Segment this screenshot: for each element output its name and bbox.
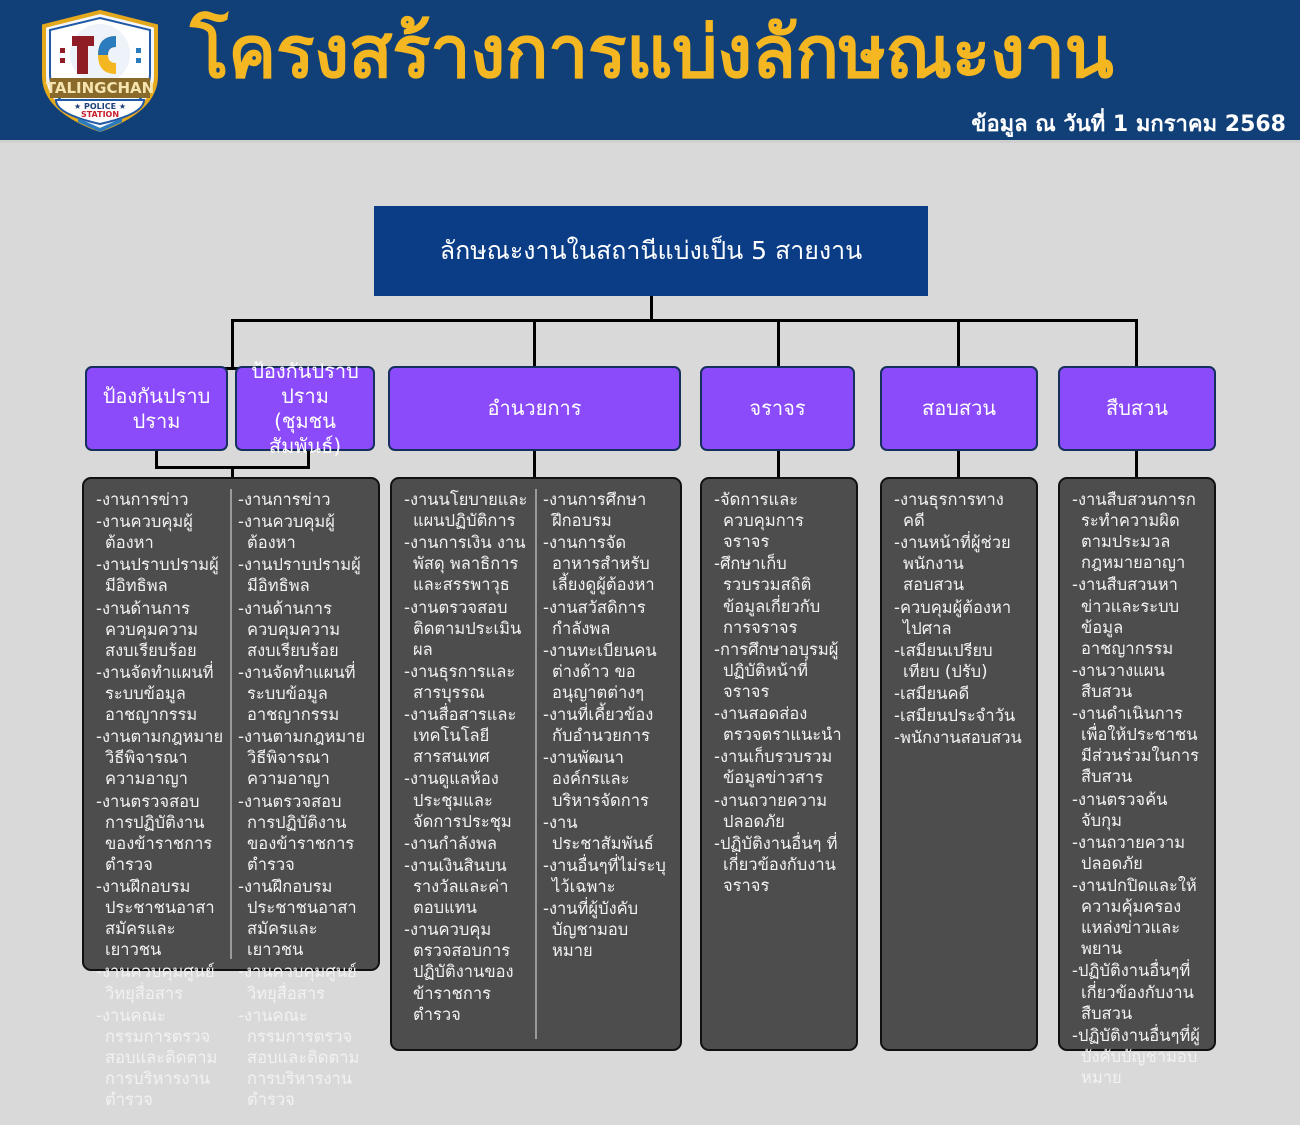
list-item: -งานทะเบียนคนต่างด้าว ขออนุญาตต่างๆ bbox=[543, 640, 668, 703]
list-column-administration-1: -งานนโยบายและแผนปฏิบัติการ-งานการเงิน งา… bbox=[398, 489, 535, 1039]
list-item: -งานนโยบายและแผนปฏิบัติการ bbox=[404, 489, 529, 531]
connector-traffic-to-list bbox=[777, 451, 780, 478]
list-box-prevention: -งานการข่าว-งานควบคุมผู้ต้องหา-งานปราบปร… bbox=[82, 477, 380, 971]
connector-root-stem bbox=[650, 296, 653, 321]
list-item: -งานธุรการและสารบุรรณ bbox=[404, 661, 529, 703]
list-item: -งานปกปิดและให้ความคุ้มครองแหล่งข่าวและพ… bbox=[1072, 875, 1202, 959]
list-box-investigation: -งานสืบสวนการกระทำความผิดตามประมวลกฎหมาย… bbox=[1058, 477, 1216, 1051]
list-item: -งานควบคุมศูนย์วิทยุสื่อสาร bbox=[96, 961, 224, 1003]
talingchan-police-station-logo: TALINGCHAN ★ POLICE ★ STATION bbox=[38, 10, 163, 132]
branch-traffic[interactable]: จราจร bbox=[700, 366, 855, 451]
list-prevention-community: -งานการข่าว-งานควบคุมผู้ต้องหา-งานปราบปร… bbox=[238, 489, 366, 1110]
branch-prevention[interactable]: ป้องกันปราบปราม bbox=[85, 366, 228, 451]
list-item: -ปฏิบัติงานอื่นๆที่ผู้บังคับบัญชามอบหมาย bbox=[1072, 1025, 1202, 1088]
list-item: -งานตรวจสอบติดตามประเมินผล bbox=[404, 597, 529, 660]
list-item: -งานตรวจค้น จับกุม bbox=[1072, 789, 1202, 831]
page-header: TALINGCHAN ★ POLICE ★ STATION โครงสร้างก… bbox=[0, 0, 1300, 143]
list-item: -งานประชาสัมพันธ์ bbox=[543, 812, 668, 854]
list-item: -งานที่ผู้บังคับบัญชามอบหมาย bbox=[543, 898, 668, 961]
list-item: -งานอื่นๆที่ไม่ระบุไว้เฉพาะ bbox=[543, 855, 668, 897]
branch-prevention-label: ป้องกันปราบปราม bbox=[93, 384, 220, 434]
list-item: -งานดำเนินการเพื่อให้ประชาชนมีส่วนร่วมใน… bbox=[1072, 703, 1202, 787]
branch-administration-label: อำนวยการ bbox=[488, 396, 582, 421]
list-box-inquiry: -งานธุรการทางคดี-งานหน้าที่ผู้ช่วยพนักงา… bbox=[880, 477, 1038, 1051]
branch-traffic-label: จราจร bbox=[749, 396, 805, 421]
list-item: -งานด้านการควบคุมความสงบเรียบร้อย bbox=[96, 598, 224, 661]
list-item: -งานปราบปรามผู้มีอิทธิพล bbox=[238, 554, 366, 596]
branch-prevention-community[interactable]: ป้องกันปราบปราม(ชุมชนสัมพันธ์) bbox=[235, 366, 375, 451]
list-item: -เสมียนคดี bbox=[894, 683, 1024, 704]
list-box-traffic: -จัดการและควบคุมการจราจร-ศึกษาเก็บรวบรวม… bbox=[700, 477, 858, 1051]
list-item: -การศึกษาอบุรมผู้ปฏิบัติหน้าที่จราจร bbox=[714, 639, 844, 702]
list-item: -งานตรวจสอบการปฏิบัติงานของข้าราชการตำรว… bbox=[96, 791, 224, 875]
org-chart-canvas: ลักษณะงานในสถานีแบ่งเป็น 5 สายงาน ป้องกั… bbox=[0, 143, 1300, 1125]
list-item: -งานกำลังพล bbox=[404, 833, 529, 854]
connector-inquiry-to-list bbox=[957, 451, 960, 478]
list-item: -งานการจัดอาหารสำหรับเลี้ยงดูผู้ต้องหา bbox=[543, 532, 668, 595]
logo-station-name: TALINGCHAN bbox=[46, 79, 154, 97]
list-item: -งานพัฒนาองค์กรและบริหารจัดการ bbox=[543, 747, 668, 810]
list-item: -งานเก็บรวบรวมข้อมูลข่าวสาร bbox=[714, 746, 844, 788]
list-column-inquiry: -งานธุรการทางคดี-งานหน้าที่ผู้ช่วยพนักงา… bbox=[888, 489, 1030, 1039]
list-item: -งานจัดทำแผนที่ระบบข้อมูลอาชญากรรม bbox=[238, 662, 366, 725]
list-item: -งานด้านการควบคุมความสงบเรียบร้อย bbox=[238, 598, 366, 661]
list-administration-1: -งานนโยบายและแผนปฏิบัติการ-งานการเงิน งา… bbox=[404, 489, 529, 1025]
list-item: -งานการข่าว bbox=[96, 489, 224, 510]
logo-station-text: STATION bbox=[81, 110, 119, 119]
list-item: -งานธุรการทางคดี bbox=[894, 489, 1024, 531]
list-column-investigation: -งานสืบสวนการกระทำความผิดตามประมวลกฎหมาย… bbox=[1066, 489, 1208, 1039]
list-item: -งานการศึกษา ฝึกอบรม bbox=[543, 489, 668, 531]
branch-administration[interactable]: อำนวยการ bbox=[388, 366, 681, 451]
list-item: -งานคณะกรรมการตรวจสอบและติดตาม การบริหาร… bbox=[96, 1005, 224, 1111]
list-item: -ศึกษาเก็บรวบรวมสถิติข้อมูลเกี่ยวกับการจ… bbox=[714, 553, 844, 637]
list-item: -งานเงินสินบนรางวัลและค่าตอบแทน bbox=[404, 855, 529, 918]
list-item: -พนักงานสอบสวน bbox=[894, 727, 1024, 748]
list-item: -งานหน้าที่ผู้ช่วยพนักงานสอบสวน bbox=[894, 532, 1024, 595]
list-item: -งานสอดส่อง ตรวจตราแนะนำ bbox=[714, 703, 844, 745]
list-investigation: -งานสืบสวนการกระทำความผิดตามประมวลกฎหมาย… bbox=[1072, 489, 1202, 1088]
list-item: -งานสืบสวนหาข่าวและระบบข้อมูลอาชญากรรม bbox=[1072, 574, 1202, 658]
list-traffic: -จัดการและควบคุมการจราจร-ศึกษาเก็บรวบรวม… bbox=[714, 489, 844, 896]
list-item: -เสมียนเปรียบเทียบ (ปรับ) bbox=[894, 640, 1024, 682]
list-item: -ควบคุมผู้ต้องหาไปศาล bbox=[894, 597, 1024, 639]
list-item: -งานตามกฎหมายวิธีพิจารณาความอาญา bbox=[238, 726, 366, 789]
list-column-traffic: -จัดการและควบคุมการจราจร-ศึกษาเก็บรวบรวม… bbox=[708, 489, 850, 1039]
page-title: โครงสร้างการแบ่งลักษณะงาน bbox=[190, 16, 1113, 88]
list-box-administration: -งานนโยบายและแผนปฏิบัติการ-งานการเงิน งา… bbox=[390, 477, 682, 1051]
branch-inquiry[interactable]: สอบสวน bbox=[880, 366, 1038, 451]
list-item: -งานสืบสวนการกระทำความผิดตามประมวลกฎหมาย… bbox=[1072, 489, 1202, 573]
list-item: -งานดูแลห้องประชุมและจัดการประชุม bbox=[404, 768, 529, 831]
list-item: -ปฏิบัติงานอื่นๆ ที่เกี่ยวข้องกับงานจราจ… bbox=[714, 833, 844, 896]
branch-inquiry-label: สอบสวน bbox=[922, 396, 996, 421]
root-node: ลักษณะงานในสถานีแบ่งเป็น 5 สายงาน bbox=[374, 206, 928, 296]
branch-investigation-label: สืบสวน bbox=[1106, 396, 1168, 421]
connector-investigation-to-list bbox=[1135, 451, 1138, 478]
list-item: -งานควบคุมศูนย์วิทยุสื่อสาร bbox=[238, 961, 366, 1003]
list-column-administration-2: -งานการศึกษา ฝึกอบรม-งานการจัดอาหารสำหรั… bbox=[535, 489, 674, 1039]
root-node-label: ลักษณะงานในสถานีแบ่งเป็น 5 สายงาน bbox=[440, 231, 863, 271]
list-item: -งานควบคุมตรวจสอบการปฏิบัติงานของข้าราชก… bbox=[404, 919, 529, 1025]
list-item: -งานฝึกอบรมประชาชนอาสาสมัครและเยาวชน bbox=[238, 876, 366, 960]
list-item: -งานคณะกรรมการตรวจสอบและติดตาม การบริหาร… bbox=[238, 1005, 366, 1111]
list-item: -งานถวายความปลอดภัย bbox=[714, 790, 844, 832]
branch-prevention-community-label: ป้องกันปราบปราม(ชุมชนสัมพันธ์) bbox=[243, 359, 367, 459]
list-column-prevention-community: -งานการข่าว-งานควบคุมผู้ต้องหา-งานปราบปร… bbox=[230, 489, 372, 959]
connector-drop-group-prevention bbox=[231, 319, 234, 369]
list-item: -งานฝึกอบรมประชาชนอาสาสมัครและเยาวชน bbox=[96, 876, 224, 960]
list-item: -งานการเงิน งานพัสดุ พลาธิการและสรรพาวุธ bbox=[404, 532, 529, 595]
list-item: -งานควบคุมผู้ต้องหา bbox=[96, 511, 224, 553]
list-item: -ปฏิบัติงานอื่นๆที่เกี่ยวข้องกับงานสืบสว… bbox=[1072, 960, 1202, 1023]
list-item: -งานปราบปรามผู้มีอิทธิพล bbox=[96, 554, 224, 596]
connector-administration-to-list bbox=[533, 451, 536, 478]
list-item: -งานสวัสดิการกำลังพล bbox=[543, 597, 668, 639]
list-item: -งานจัดทำแผนที่ระบบข้อมูลอาชญากรรม bbox=[96, 662, 224, 725]
list-administration-2: -งานการศึกษา ฝึกอบรม-งานการจัดอาหารสำหรั… bbox=[543, 489, 668, 961]
list-item: -งานตามกฎหมายวิธีพิจารณาความอาญา bbox=[96, 726, 224, 789]
list-item: -งานการข่าว bbox=[238, 489, 366, 510]
list-inquiry: -งานธุรการทางคดี-งานหน้าที่ผู้ช่วยพนักงา… bbox=[894, 489, 1024, 748]
list-item: -งานวางแผนสืบสวน bbox=[1072, 660, 1202, 702]
list-item: -จัดการและควบคุมการจราจร bbox=[714, 489, 844, 552]
list-item: -งานตรวจสอบการปฏิบัติงานของข้าราชการตำรว… bbox=[238, 791, 366, 875]
connector-main-bus bbox=[231, 319, 1138, 322]
data-as-of-date: ข้อมูล ณ วันที่ 1 มกราคม 2568 bbox=[971, 106, 1286, 141]
list-item: -เสมียนประจำวัน bbox=[894, 705, 1024, 726]
list-item: -งานที่เคี้ยวข้องกับอำนวยการ bbox=[543, 704, 668, 746]
list-item: -งานควบคุมผู้ต้องหา bbox=[238, 511, 366, 553]
branch-investigation[interactable]: สืบสวน bbox=[1058, 366, 1216, 451]
list-column-prevention: -งานการข่าว-งานควบคุมผู้ต้องหา-งานปราบปร… bbox=[90, 489, 230, 959]
list-item: -งานสื่อสารและเทคโนโลยีสารสนเทศ bbox=[404, 704, 529, 767]
list-item: -งานถวายความปลอดภัย bbox=[1072, 832, 1202, 874]
list-prevention: -งานการข่าว-งานควบคุมผู้ต้องหา-งานปราบปร… bbox=[96, 489, 224, 1110]
